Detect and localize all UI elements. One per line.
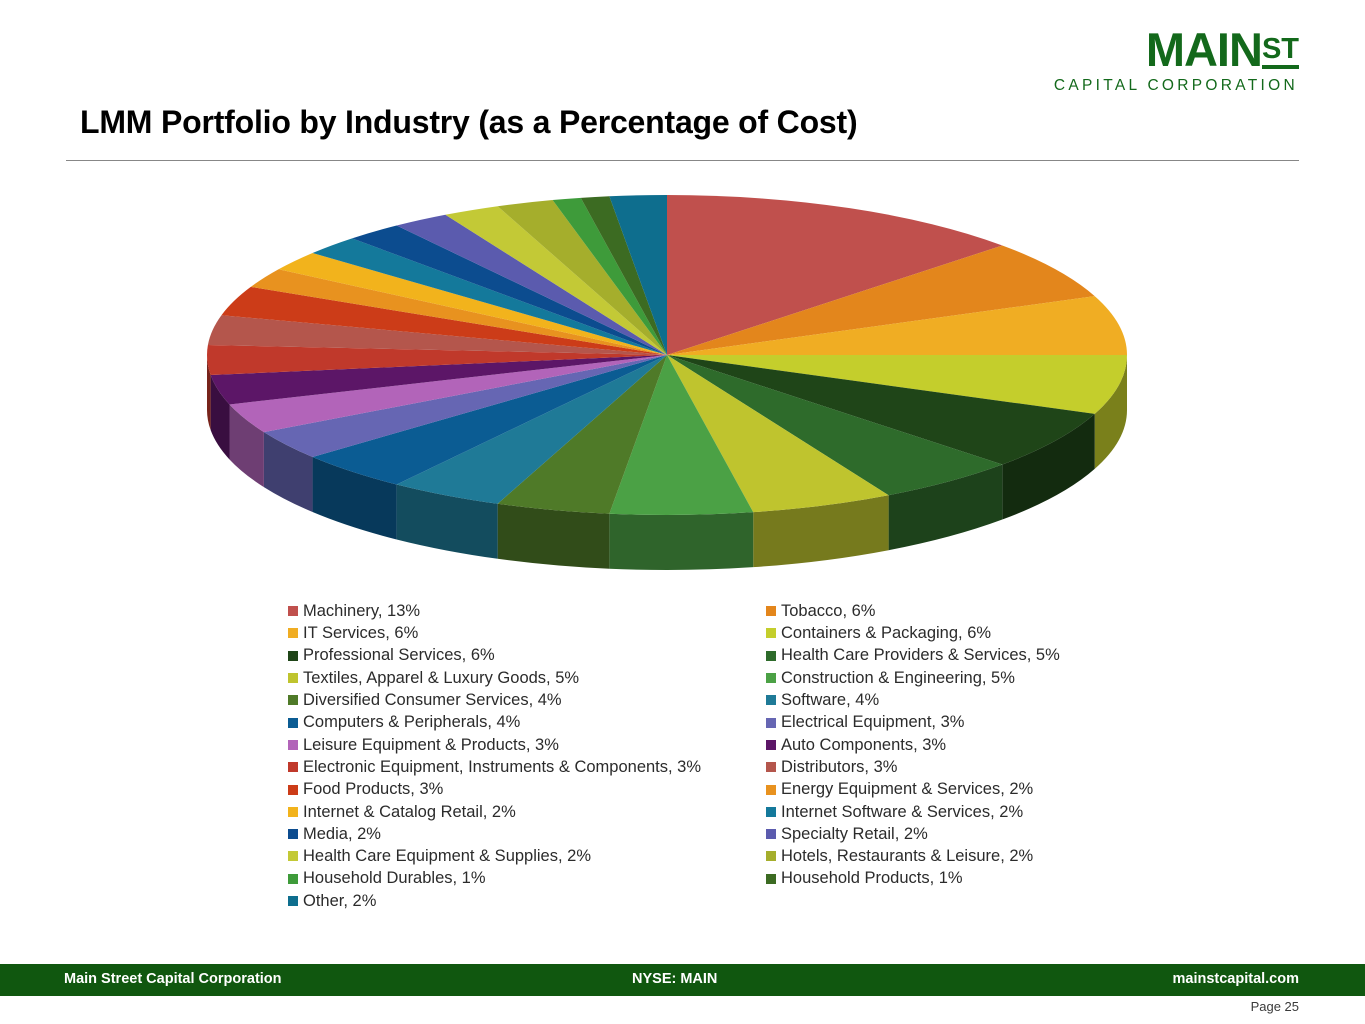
legend-swatch-icon bbox=[288, 807, 298, 817]
legend-item[interactable]: Tobacco, 6% bbox=[766, 600, 1286, 622]
legend-swatch-icon bbox=[288, 651, 298, 661]
footer-website: mainstcapital.com bbox=[1172, 971, 1299, 987]
legend-item-label: IT Services, 6% bbox=[303, 625, 418, 642]
legend-item[interactable]: Food Products, 3% bbox=[288, 778, 766, 800]
page-number: Page 25 bbox=[1251, 999, 1299, 1014]
footer-company-name: Main Street Capital Corporation bbox=[64, 971, 282, 987]
legend-item-label: Diversified Consumer Services, 4% bbox=[303, 692, 562, 709]
legend-item[interactable]: Internet Software & Services, 2% bbox=[766, 801, 1286, 823]
legend-swatch-icon bbox=[766, 740, 776, 750]
legend-swatch-icon bbox=[766, 628, 776, 638]
legend-item-label: Hotels, Restaurants & Leisure, 2% bbox=[781, 848, 1033, 865]
legend-swatch-icon bbox=[766, 762, 776, 772]
legend-item[interactable]: Household Products, 1% bbox=[766, 868, 1286, 890]
legend-item-label: Containers & Packaging, 6% bbox=[781, 625, 991, 642]
legend-swatch-icon bbox=[766, 673, 776, 683]
legend-item-label: Internet & Catalog Retail, 2% bbox=[303, 804, 516, 821]
title-divider bbox=[66, 160, 1299, 161]
legend-column-left: Machinery, 13%IT Services, 6%Professiona… bbox=[288, 600, 766, 912]
chart-legend: Machinery, 13%IT Services, 6%Professiona… bbox=[288, 600, 1298, 912]
logo-wordmark: MAINST bbox=[1054, 26, 1299, 73]
legend-swatch-icon bbox=[288, 718, 298, 728]
logo-superscript-text: ST bbox=[1262, 35, 1299, 69]
legend-item-label: Health Care Providers & Services, 5% bbox=[781, 647, 1060, 664]
legend-item[interactable]: Containers & Packaging, 6% bbox=[766, 622, 1286, 644]
legend-item-label: Household Products, 1% bbox=[781, 870, 963, 887]
legend-item[interactable]: Construction & Engineering, 5% bbox=[766, 667, 1286, 689]
legend-item-label: Household Durables, 1% bbox=[303, 870, 486, 887]
legend-item[interactable]: Health Care Equipment & Supplies, 2% bbox=[288, 845, 766, 867]
legend-swatch-icon bbox=[288, 740, 298, 750]
legend-swatch-icon bbox=[766, 874, 776, 884]
legend-item-label: Other, 2% bbox=[303, 893, 376, 910]
legend-swatch-icon bbox=[766, 829, 776, 839]
legend-item[interactable]: Health Care Providers & Services, 5% bbox=[766, 645, 1286, 667]
legend-item[interactable]: Distributors, 3% bbox=[766, 756, 1286, 778]
legend-item[interactable]: Electrical Equipment, 3% bbox=[766, 711, 1286, 733]
legend-item-label: Textiles, Apparel & Luxury Goods, 5% bbox=[303, 670, 579, 687]
pie-slice-side bbox=[498, 504, 610, 569]
legend-swatch-icon bbox=[288, 606, 298, 616]
slide-title: LMM Portfolio by Industry (as a Percenta… bbox=[80, 104, 857, 141]
footer-bar: Main Street Capital Corporation NYSE: MA… bbox=[0, 964, 1365, 996]
legend-item-label: Construction & Engineering, 5% bbox=[781, 670, 1015, 687]
legend-item-label: Tobacco, 6% bbox=[781, 603, 875, 620]
legend-swatch-icon bbox=[288, 628, 298, 638]
pie-chart-svg: Machinery, 13%Tobacco, 6%IT Services, 6%… bbox=[0, 180, 1365, 580]
legend-item[interactable]: Auto Components, 3% bbox=[766, 734, 1286, 756]
legend-item[interactable]: Media, 2% bbox=[288, 823, 766, 845]
legend-swatch-icon bbox=[288, 673, 298, 683]
legend-swatch-icon bbox=[288, 762, 298, 772]
legend-swatch-icon bbox=[766, 718, 776, 728]
legend-item[interactable]: Household Durables, 1% bbox=[288, 868, 766, 890]
legend-item-label: Electronic Equipment, Instruments & Comp… bbox=[303, 759, 701, 776]
legend-swatch-icon bbox=[288, 896, 298, 906]
legend-swatch-icon bbox=[288, 829, 298, 839]
legend-item[interactable]: Textiles, Apparel & Luxury Goods, 5% bbox=[288, 667, 766, 689]
legend-item-label: Media, 2% bbox=[303, 826, 381, 843]
company-logo: MAINST CAPITAL CORPORATION bbox=[1054, 26, 1299, 94]
legend-item[interactable]: Software, 4% bbox=[766, 689, 1286, 711]
legend-swatch-icon bbox=[766, 651, 776, 661]
legend-item-label: Professional Services, 6% bbox=[303, 647, 495, 664]
legend-item[interactable]: Computers & Peripherals, 4% bbox=[288, 711, 766, 733]
legend-item-label: Leisure Equipment & Products, 3% bbox=[303, 737, 559, 754]
legend-item[interactable]: Professional Services, 6% bbox=[288, 645, 766, 667]
legend-swatch-icon bbox=[766, 851, 776, 861]
legend-item[interactable]: Hotels, Restaurants & Leisure, 2% bbox=[766, 845, 1286, 867]
legend-item[interactable]: Other, 2% bbox=[288, 890, 766, 912]
legend-item-label: Energy Equipment & Services, 2% bbox=[781, 781, 1033, 798]
legend-item-label: Distributors, 3% bbox=[781, 759, 897, 776]
legend-item-label: Machinery, 13% bbox=[303, 603, 420, 620]
legend-item-label: Health Care Equipment & Supplies, 2% bbox=[303, 848, 591, 865]
legend-swatch-icon bbox=[288, 785, 298, 795]
pie-top-slices: Machinery, 13%Tobacco, 6%IT Services, 6%… bbox=[207, 195, 1127, 515]
logo-subtitle: CAPITAL CORPORATION bbox=[1054, 78, 1299, 94]
legend-item[interactable]: Machinery, 13% bbox=[288, 600, 766, 622]
legend-item[interactable]: Electronic Equipment, Instruments & Comp… bbox=[288, 756, 766, 778]
legend-item[interactable]: IT Services, 6% bbox=[288, 622, 766, 644]
footer-ticker: NYSE: MAIN bbox=[632, 971, 717, 987]
logo-main-text: MAIN bbox=[1146, 26, 1262, 73]
legend-swatch-icon bbox=[766, 807, 776, 817]
legend-item-label: Electrical Equipment, 3% bbox=[781, 714, 964, 731]
legend-item[interactable]: Diversified Consumer Services, 4% bbox=[288, 689, 766, 711]
legend-swatch-icon bbox=[766, 606, 776, 616]
legend-item[interactable]: Energy Equipment & Services, 2% bbox=[766, 778, 1286, 800]
legend-item-label: Internet Software & Services, 2% bbox=[781, 804, 1023, 821]
legend-swatch-icon bbox=[288, 874, 298, 884]
legend-swatch-icon bbox=[288, 695, 298, 705]
legend-swatch-icon bbox=[766, 695, 776, 705]
legend-item-label: Auto Components, 3% bbox=[781, 737, 946, 754]
legend-item-label: Specialty Retail, 2% bbox=[781, 826, 928, 843]
legend-item-label: Software, 4% bbox=[781, 692, 879, 709]
legend-swatch-icon bbox=[288, 851, 298, 861]
legend-item[interactable]: Leisure Equipment & Products, 3% bbox=[288, 734, 766, 756]
pie-chart: Machinery, 13%Tobacco, 6%IT Services, 6%… bbox=[0, 180, 1365, 580]
pie-slice-side bbox=[609, 512, 753, 570]
legend-item-label: Food Products, 3% bbox=[303, 781, 443, 798]
legend-column-right: Tobacco, 6%Containers & Packaging, 6%Hea… bbox=[766, 600, 1286, 912]
legend-swatch-icon bbox=[766, 785, 776, 795]
legend-item[interactable]: Internet & Catalog Retail, 2% bbox=[288, 801, 766, 823]
legend-item[interactable]: Specialty Retail, 2% bbox=[766, 823, 1286, 845]
legend-item-label: Computers & Peripherals, 4% bbox=[303, 714, 520, 731]
